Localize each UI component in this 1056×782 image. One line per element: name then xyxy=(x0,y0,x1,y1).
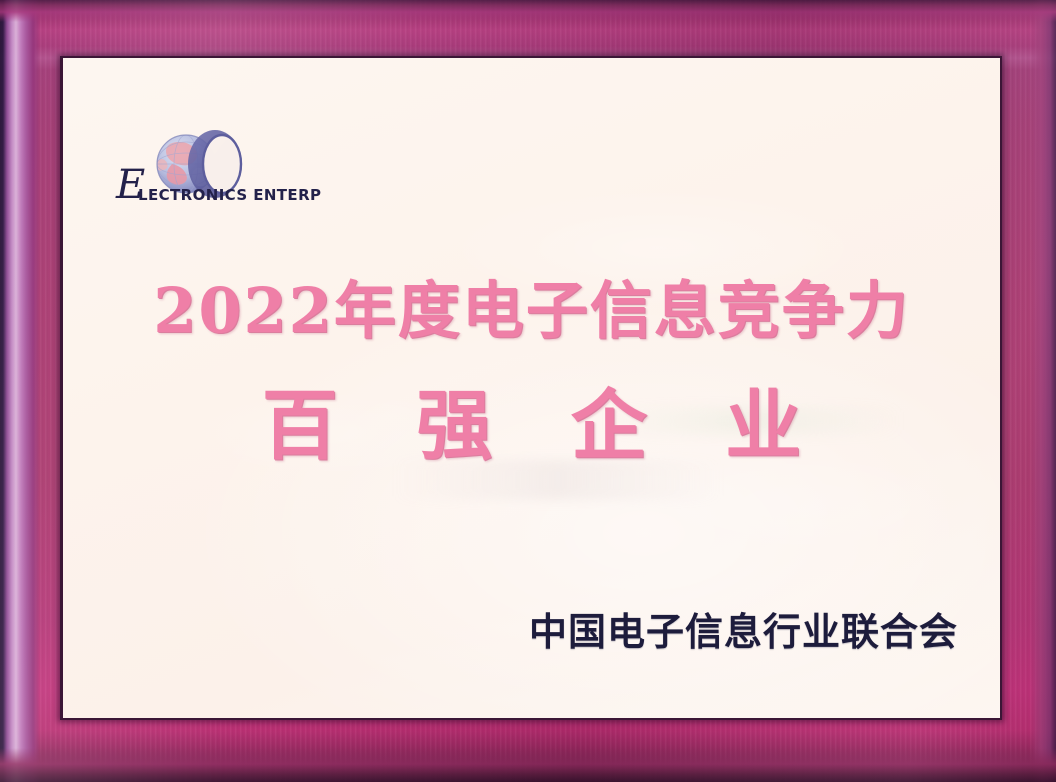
issuing-organization: 中国电子信息行业联合会 xyxy=(529,601,958,656)
frame-bevel-bottom xyxy=(0,748,1056,782)
award-plaque: E LECTRONICS ENTERPRISE 2022年度电子信息竞争力 百 … xyxy=(0,0,1056,782)
certificate-panel: E LECTRONICS ENTERPRISE 2022年度电子信息竞争力 百 … xyxy=(63,58,1000,718)
logo-artwork: E LECTRONICS ENTERPRISE xyxy=(112,120,322,220)
frame-bevel-top xyxy=(0,0,1056,22)
award-title-line-1: 2022年度电子信息竞争力 xyxy=(63,280,1000,342)
frame-bevel-left xyxy=(0,0,40,782)
frame-bevel-right xyxy=(1030,0,1056,782)
electronics-enterprise-logo: E LECTRONICS ENTERPRISE xyxy=(112,120,322,220)
logo-wordmark: LECTRONICS ENTERPRISE xyxy=(138,186,322,204)
award-title-line-2: 百 强 企 业 xyxy=(63,388,1000,464)
